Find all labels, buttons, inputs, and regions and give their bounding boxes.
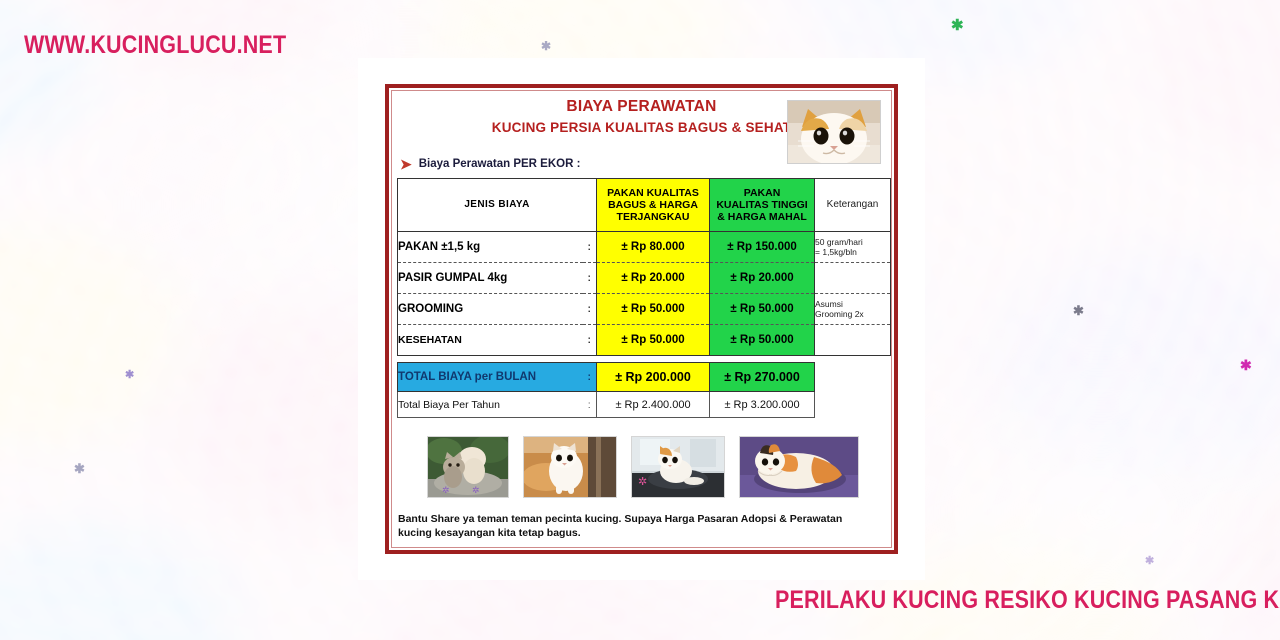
total-month-yellow: ± Rp 200.000 (597, 363, 710, 392)
row-value-green: ± Rp 20.000 (710, 263, 815, 294)
header-pakan-tinggi-l2: KUALITAS TINGGI (710, 199, 814, 211)
total-year-row: Total Biaya Per Tahun:± Rp 2.400.000± Rp… (398, 392, 891, 418)
row-value-yellow: ± Rp 80.000 (597, 232, 710, 263)
row-label: PASIR GUMPAL 4kg (398, 263, 583, 294)
row-note (815, 325, 891, 356)
header-pakan-tinggi-l3: & HARGA MAHAL (710, 211, 814, 223)
table-row: PASIR GUMPAL 4kg:± Rp 20.000± Rp 20.000 (398, 263, 891, 294)
header-pakan-tinggi-l1: PAKAN (710, 187, 814, 199)
row-label: PAKAN ±1,5 kg (398, 232, 583, 263)
row-note (815, 263, 891, 294)
site-watermark-top: WWW.KUCINGLUCU.NET (24, 31, 286, 60)
table-header-row: JENIS BIAYA PAKAN KUALITAS BAGUS & HARGA… (398, 179, 891, 232)
arrow-bullet-icon: ➤ (400, 157, 412, 171)
svg-text:✲: ✲ (472, 485, 480, 495)
total-month-green: ± Rp 270.000 (710, 363, 815, 392)
row-colon: : (583, 263, 597, 294)
total-year-note (815, 392, 891, 418)
row-colon: : (583, 325, 597, 356)
total-month-label: TOTAL BIAYA per BULAN (398, 363, 583, 392)
sparkle-icon: ✱ (951, 18, 964, 33)
total-month-colon: : (583, 363, 597, 392)
photo-white-persian (523, 436, 617, 498)
row-value-yellow: ± Rp 20.000 (597, 263, 710, 294)
row-value-green: ± Rp 150.000 (710, 232, 815, 263)
header-jenis-biaya: JENIS BIAYA (398, 179, 597, 232)
row-value-yellow: ± Rp 50.000 (597, 294, 710, 325)
table-row: KESEHATAN:± Rp 50.000± Rp 50.000 (398, 325, 891, 356)
total-year-colon: : (583, 392, 597, 418)
header-pakan-bagus-l3: TERJANGKAU (597, 211, 709, 223)
total-year-yellow: ± Rp 2.400.000 (597, 392, 710, 418)
row-label: GROOMING (398, 294, 583, 325)
subheading-label: Biaya Perawatan PER EKOR : (419, 158, 581, 170)
row-colon: : (583, 232, 597, 263)
total-month-row: TOTAL BIAYA per BULAN:± Rp 200.000± Rp 2… (398, 363, 891, 392)
header-keterangan: Keterangan (815, 179, 891, 232)
caption-watermark-bottom: PERILAKU KUCING RESIKO KUCING PASANG KAT… (775, 586, 1280, 615)
table-body: PAKAN ±1,5 kg:± Rp 80.000± Rp 150.00050 … (398, 232, 891, 418)
row-value-green: ± Rp 50.000 (710, 294, 815, 325)
photo-strip: ✲ ✲ (427, 436, 859, 498)
sparkle-icon: ✱ (125, 370, 134, 381)
table-row: GROOMING:± Rp 50.000± Rp 50.000AsumsiGro… (398, 294, 891, 325)
table-row: PAKAN ±1,5 kg:± Rp 80.000± Rp 150.00050 … (398, 232, 891, 263)
subheading-row: ➤ Biaya Perawatan PER EKOR : (400, 157, 580, 171)
cost-table: JENIS BIAYA PAKAN KUALITAS BAGUS & HARGA… (397, 178, 891, 418)
photo-kitten-on-rock: ✲ ✲ (427, 436, 509, 498)
sparkle-icon: ✱ (1073, 304, 1084, 317)
sparkle-icon: ✱ (74, 462, 85, 475)
svg-text:✲: ✲ (638, 476, 647, 488)
photo-calico-kitten: ✲ (631, 436, 725, 498)
row-note: AsumsiGrooming 2x (815, 294, 891, 325)
header-cat-photo (787, 100, 881, 164)
sparkle-icon: ✱ (1145, 556, 1154, 567)
row-label: KESEHATAN (398, 325, 583, 356)
total-year-label: Total Biaya Per Tahun (398, 392, 583, 418)
table-spacer (398, 356, 891, 363)
total-year-green: ± Rp 3.200.000 (710, 392, 815, 418)
share-note-line1: Bantu Share ya teman teman pecinta kucin… (398, 512, 885, 526)
price-card: BIAYA PERAWATAN KUCING PERSIA KUALITAS B… (385, 84, 898, 554)
total-month-note (815, 363, 891, 392)
row-value-yellow: ± Rp 50.000 (597, 325, 710, 356)
row-value-green: ± Rp 50.000 (710, 325, 815, 356)
share-note-line2: kucing kesayangan kita tetap bagus. (398, 526, 885, 540)
header-pakan-tinggi: PAKAN KUALITAS TINGGI & HARGA MAHAL (710, 179, 815, 232)
row-note: 50 gram/hari= 1,5kg/bln (815, 232, 891, 263)
row-colon: : (583, 294, 597, 325)
share-note: Bantu Share ya teman teman pecinta kucin… (398, 512, 885, 540)
header-pakan-bagus-l2: BAGUS & HARGA (597, 199, 709, 211)
photo-orange-white-persian (739, 436, 859, 498)
header-pakan-bagus: PAKAN KUALITAS BAGUS & HARGA TERJANGKAU (597, 179, 710, 232)
header-pakan-bagus-l1: PAKAN KUALITAS (597, 187, 709, 199)
svg-text:✲: ✲ (442, 485, 450, 495)
sparkle-icon: ✱ (1240, 358, 1252, 372)
sparkle-icon: ✱ (541, 40, 551, 52)
